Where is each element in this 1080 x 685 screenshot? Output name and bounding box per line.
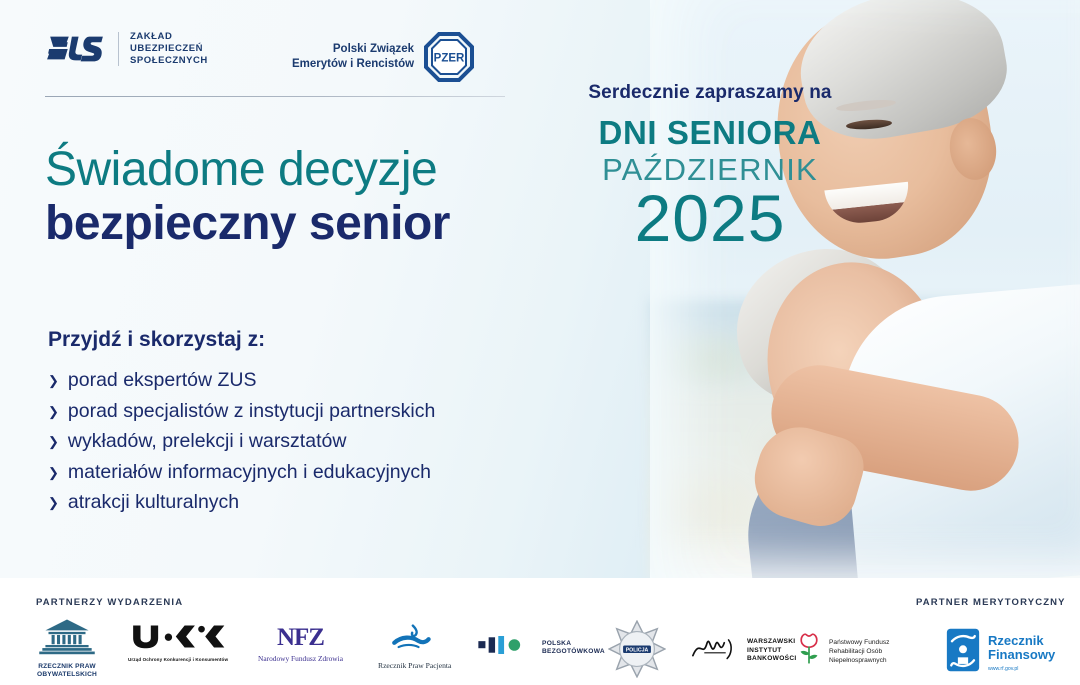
partner-logo-polska-bezgotowkowa[interactable]: POLSKA BEZGOTÓWKOWA xyxy=(478,636,605,659)
chevron-right-icon: ❯ xyxy=(48,489,59,518)
rpo-building-icon xyxy=(36,618,98,660)
pzer-name: Polski Związek Emerytów i Rencistów xyxy=(292,42,414,72)
zus-name-line-1: ZAKŁAD xyxy=(130,31,208,43)
rpo-caption-line-2: OBYWATELSKICH xyxy=(37,671,97,679)
wib-signature-icon xyxy=(690,634,740,668)
chevron-right-icon: ❯ xyxy=(48,459,59,488)
invitation-list: ❯ porad ekspertów ZUS ❯ porad specjalist… xyxy=(48,366,568,519)
pfron-caption-line-1: Państwowy Fundusz xyxy=(829,638,889,647)
chevron-right-icon: ❯ xyxy=(48,428,59,457)
partner-logos: RZECZNIK PRAW OBYWATELSKICH Urząd Ochron… xyxy=(0,618,1080,680)
rzecznik-finansowy-caption: Rzecznik Finansowy www.rf.gov.pl xyxy=(988,634,1055,672)
partner-logo-policja[interactable]: POLICJA xyxy=(608,620,666,683)
rpo-caption: RZECZNIK PRAW OBYWATELSKICH xyxy=(37,663,97,680)
page-title: Świadome decyzje bezpieczny senior xyxy=(45,142,585,252)
chevron-right-icon: ❯ xyxy=(48,367,59,396)
list-item: ❯ porad ekspertów ZUS xyxy=(48,366,568,397)
list-item: ❯ wykładów, prelekcji i warsztatów xyxy=(48,427,568,458)
wib-caption-line-3: BANKOWOŚCI xyxy=(747,655,797,663)
list-item: ❯ atrakcji kulturalnych xyxy=(48,488,568,519)
invitation-title: Przyjdź i skorzystaj z: xyxy=(48,328,568,352)
rpp-caption: Rzecznik Praw Pacjenta xyxy=(378,661,451,670)
wib-caption-line-2: INSTYTUT xyxy=(747,647,797,655)
list-item-label: materiałów informacyjnych i edukacyjnych xyxy=(68,458,431,487)
pzer-name-line-1: Polski Związek xyxy=(292,42,414,57)
rzecznik-finansowy-hands-icon xyxy=(946,628,980,677)
event-lead-text: Serdecznie zapraszamy na xyxy=(560,82,860,104)
partner-logo-wib[interactable]: WARSZAWSKI INSTYTUT BANKOWOŚCI xyxy=(690,634,797,668)
pfron-caption-line-3: Niepełnosprawnych xyxy=(829,656,889,665)
event-title: DNI SENIORA xyxy=(560,115,860,151)
zus-name-line-3: SPOŁECZNYCH xyxy=(130,55,208,67)
zus-logo-divider xyxy=(118,32,119,66)
partner-logo-pfron[interactable]: Państwowy Fundusz Rehabilitacji Osób Nie… xyxy=(796,632,889,670)
pzer-badge-label: PZER xyxy=(434,53,465,65)
list-item-label: porad specjalistów z instytucji partners… xyxy=(68,397,435,426)
partner-logo-nfz[interactable]: NFZ Narodowy Fundusz Zdrowia xyxy=(258,624,343,663)
pzer-name-line-2: Emerytów i Rencistów xyxy=(292,57,414,72)
list-item: ❯ porad specjalistów z instytucji partne… xyxy=(48,397,568,428)
partners-label: PARTNERZY WYDARZENIA xyxy=(36,597,183,608)
partner-logo-rzecznik-praw-pacjenta[interactable]: Rzecznik Praw Pacjenta xyxy=(378,624,451,670)
event-block: Serdecznie zapraszamy na DNI SENIORA PAŹ… xyxy=(560,82,860,253)
pfron-tulip-icon xyxy=(796,632,822,670)
zus-full-name: ZAKŁAD UBEZPIECZEŃ SPOŁECZNYCH xyxy=(130,31,208,68)
pb-caption-line-2: BEZGOTÓWKOWA xyxy=(542,648,605,656)
chevron-right-icon: ❯ xyxy=(48,398,59,427)
policja-badge-label: POLICJA xyxy=(626,647,649,653)
pzer-octagon-icon: PZER xyxy=(424,32,474,82)
pb-caption-line-1: POLSKA xyxy=(542,640,605,648)
header: ZAKŁAD UBEZPIECZEŃ SPOŁECZNYCH Polski Zw… xyxy=(0,0,560,100)
rpo-caption-line-1: RZECZNIK PRAW xyxy=(37,663,97,671)
header-divider xyxy=(45,96,505,97)
rf-url[interactable]: www.rf.gov.pl xyxy=(988,666,1055,672)
zus-logo: ZAKŁAD UBEZPIECZEŃ SPOŁECZNYCH xyxy=(45,31,208,68)
polska-bezgotowkowa-caption: POLSKA BEZGOTÓWKOWA xyxy=(542,640,605,656)
nfz-wordmark: NFZ xyxy=(277,624,324,652)
partner-logo-rpo[interactable]: RZECZNIK PRAW OBYWATELSKICH xyxy=(36,618,98,680)
rf-caption-line-1: Rzecznik xyxy=(988,634,1055,649)
list-item-label: atrakcji kulturalnych xyxy=(68,488,239,517)
uokik-mark-icon xyxy=(130,624,226,654)
partner-logo-uokik[interactable]: Urząd Ochrony Konkurencji i Konsumentów xyxy=(128,624,228,662)
pfron-caption: Państwowy Fundusz Rehabilitacji Osób Nie… xyxy=(829,638,889,665)
pzer-logo: Polski Związek Emerytów i Rencistów PZER xyxy=(292,32,474,82)
poster: ZAKŁAD UBEZPIECZEŃ SPOŁECZNYCH Polski Zw… xyxy=(0,0,1080,685)
event-year: 2025 xyxy=(560,183,860,253)
headline-line-2: bezpieczny senior xyxy=(45,196,585,252)
list-item-label: porad ekspertów ZUS xyxy=(68,366,257,395)
rpp-wave-icon xyxy=(390,624,440,658)
pfron-caption-line-2: Rehabilitacji Osób xyxy=(829,647,889,656)
headline-line-1: Świadome decyzje xyxy=(45,142,585,198)
zus-name-line-2: UBEZPIECZEŃ xyxy=(130,43,208,55)
list-item-label: wykładów, prelekcji i warsztatów xyxy=(68,427,347,456)
invitation-block: Przyjdź i skorzystaj z: ❯ porad ekspertó… xyxy=(48,328,568,519)
nfz-subtitle: Narodowy Fundusz Zdrowia xyxy=(258,654,343,663)
polska-bezgotowkowa-mark-icon xyxy=(478,636,534,659)
wib-caption: WARSZAWSKI INSTYTUT BANKOWOŚCI xyxy=(747,638,797,663)
zus-wordmark-icon xyxy=(45,32,107,66)
partner-logo-rzecznik-finansowy[interactable]: Rzecznik Finansowy www.rf.gov.pl xyxy=(946,628,1055,677)
rf-caption-line-2: Finansowy xyxy=(988,648,1055,663)
policja-star-badge-icon: POLICJA xyxy=(608,620,666,683)
list-item: ❯ materiałów informacyjnych i edukacyjny… xyxy=(48,458,568,489)
wib-caption-line-1: WARSZAWSKI xyxy=(747,638,797,646)
uokik-subtitle: Urząd Ochrony Konkurencji i Konsumentów xyxy=(128,657,228,662)
expert-partner-label: PARTNER MERYTORYCZNY xyxy=(916,597,1066,608)
